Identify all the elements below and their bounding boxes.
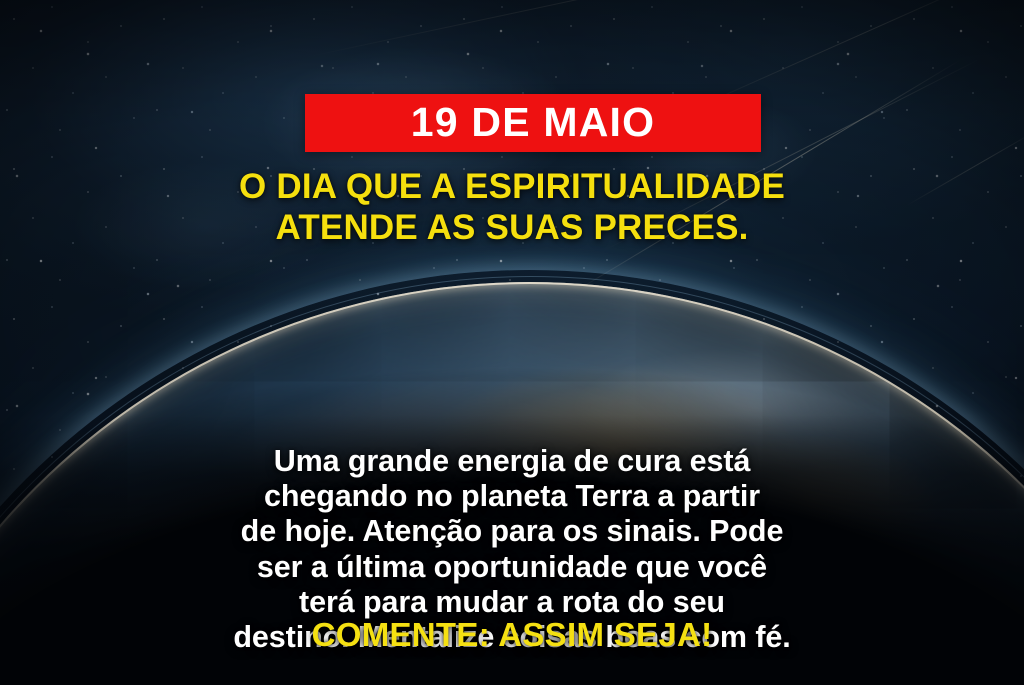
headline-line-1: O DIA QUE A ESPIRITUALIDADE bbox=[46, 166, 978, 207]
headline-line-2: ATENDE AS SUAS PRECES. bbox=[46, 207, 978, 248]
call-to-action-label: COMENTE: ASSIM SEJA! bbox=[312, 616, 713, 653]
body-line-1: Uma grande energia de cura está bbox=[52, 444, 972, 479]
body-line-5: terá para mudar a rota do seu bbox=[52, 585, 972, 620]
poster-content: 19 DE MAIO O DIA QUE A ESPIRITUALIDADE A… bbox=[0, 0, 1024, 685]
call-to-action: COMENTE: ASSIM SEJA! bbox=[0, 618, 1024, 651]
body-line-4: ser a última oportunidade que você bbox=[52, 550, 972, 585]
poster-canvas: 19 DE MAIO O DIA QUE A ESPIRITUALIDADE A… bbox=[0, 0, 1024, 685]
headline: O DIA QUE A ESPIRITUALIDADE ATENDE AS SU… bbox=[0, 166, 1024, 249]
body-line-3: de hoje. Atenção para os sinais. Pode bbox=[52, 514, 972, 549]
date-banner: 19 DE MAIO bbox=[305, 94, 761, 152]
date-banner-label: 19 DE MAIO bbox=[411, 102, 655, 143]
body-line-2: chegando no planeta Terra a partir bbox=[52, 479, 972, 514]
